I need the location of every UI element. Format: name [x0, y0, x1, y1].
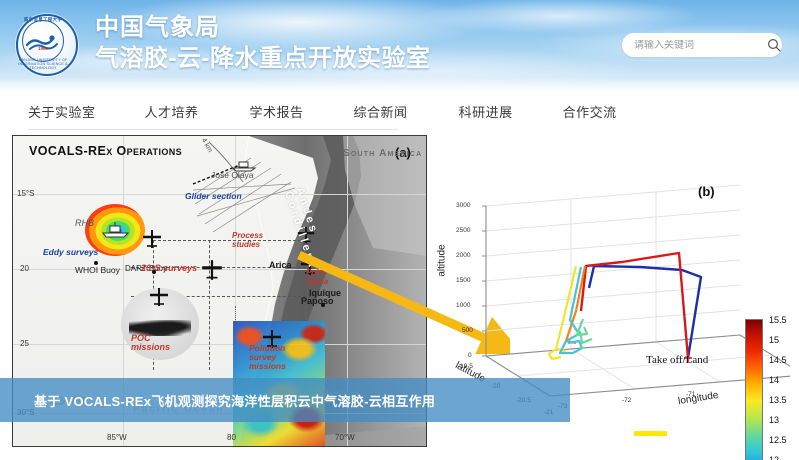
aircraft-symbol-1: [141, 228, 163, 250]
cbtick-13p5: 13.5: [769, 395, 787, 405]
carousel-indicators: [0, 427, 799, 441]
ztick-1500: 1500: [456, 277, 470, 284]
cbtick-15: 15: [769, 335, 779, 345]
ztick-1000: 1000: [456, 302, 470, 309]
label-arica: Arica: [269, 260, 292, 270]
site-title-block: 中国气象局 气溶胶-云-降水重点开放实验室: [95, 13, 430, 74]
aircraft-symbol-2: [199, 258, 225, 282]
hero-banner[interactable]: VOCALS-REx Operations (a) South America …: [0, 131, 799, 460]
nav-item-cooperation[interactable]: 合作交流: [563, 102, 617, 121]
label-process-studies: Process studies: [232, 231, 276, 249]
label-glider-section: Glider section: [185, 192, 229, 201]
label-whoi-buoy: WHOI Buoy: [75, 266, 119, 276]
site-logo[interactable]: 南京信息工程大学 1960 NANJING UNIVERSITY OF INFO…: [12, 10, 82, 80]
nav-item-research[interactable]: 科研进展: [459, 102, 513, 121]
map-gridline-25: [13, 344, 426, 345]
logo-bottom-text: NANJING UNIVERSITY OF INFORMATION SCIENC…: [12, 58, 74, 70]
ship-icon-rhb: [101, 222, 131, 238]
takeoff-land-label: Take off/Land: [646, 354, 708, 366]
org-name: 中国气象局: [95, 13, 430, 43]
search-box[interactable]: [622, 33, 782, 57]
logo-top-text: 南京信息工程大学: [12, 17, 74, 23]
label-20s-surveys: 20°S surveys: [141, 264, 197, 273]
nav-item-news[interactable]: 综合新闻: [354, 102, 408, 121]
label-eddy-surveys: Eddy surveys: [43, 248, 89, 257]
label-poc-missions: POC missions: [131, 334, 177, 352]
label-paposo: Paposo: [301, 296, 334, 306]
logo-year: 1960: [12, 46, 74, 51]
site-header: 南京信息工程大学 1960 NANJING UNIVERSITY OF INFO…: [0, 0, 799, 92]
banner-caption-bar[interactable]: 基于 VOCALS-REx飞机观测探究海洋性层积云中气溶胶-云相互作用: [0, 378, 570, 422]
search-input[interactable]: [622, 40, 766, 51]
map-ytick-20: 20: [20, 264, 29, 273]
xtick-72: -72: [622, 397, 631, 404]
banner-caption-text: 基于 VOCALS-REx飞机观测探究海洋性层积云中气溶胶-云相互作用: [0, 391, 435, 410]
ztick-2000: 2000: [456, 252, 470, 259]
ztick-3000: 3000: [456, 202, 470, 209]
xtick-71: -71: [686, 391, 695, 398]
label-jose-olaya: José Olaya: [211, 170, 254, 180]
axis-label-altitude: altitude: [437, 244, 448, 276]
map-ytick-25: 25: [20, 339, 29, 348]
carousel-indicator-active[interactable]: [634, 431, 667, 436]
nav-item-about[interactable]: 关于实验室: [28, 102, 96, 121]
map-title: VOCALS-REx Operations: [29, 144, 182, 158]
ztick-500: 500: [462, 327, 473, 334]
nav-divider: [28, 129, 398, 130]
cbtick-15p5: 15.5: [769, 315, 787, 325]
search-icon[interactable]: [766, 33, 782, 57]
label-pollution-survey-missions: Pollution survey missions: [249, 344, 297, 371]
nav-item-reports[interactable]: 学术报告: [250, 102, 304, 121]
cbtick-14p5: 14.5: [769, 355, 787, 365]
ytick-19p5: -19.5: [458, 363, 473, 370]
aircraft-symbol-poc: [148, 286, 170, 308]
panel-b-letter: (b): [698, 184, 715, 199]
label-south-america-1: South America: [343, 148, 422, 159]
cbtick-14: 14: [769, 375, 779, 385]
label-rhb: RHB: [75, 218, 94, 228]
lab-name: 气溶胶-云-降水重点开放实验室: [95, 43, 430, 74]
ztick-0: 0: [468, 352, 472, 359]
map-ytick-15s: 15°S: [17, 189, 34, 198]
page-root: 南京信息工程大学 1960 NANJING UNIVERSITY OF INFO…: [0, 0, 799, 460]
main-nav: 关于实验室 人才培养 学术报告 综合新闻 科研进展 合作交流: [0, 92, 799, 130]
cbtick-12: 12: [769, 455, 779, 460]
label-point-alpha: Point Alpha: [306, 268, 338, 286]
cbtick-13: 13: [769, 415, 779, 425]
nav-item-talent[interactable]: 人才培养: [145, 102, 199, 121]
ztick-2500: 2500: [456, 227, 470, 234]
